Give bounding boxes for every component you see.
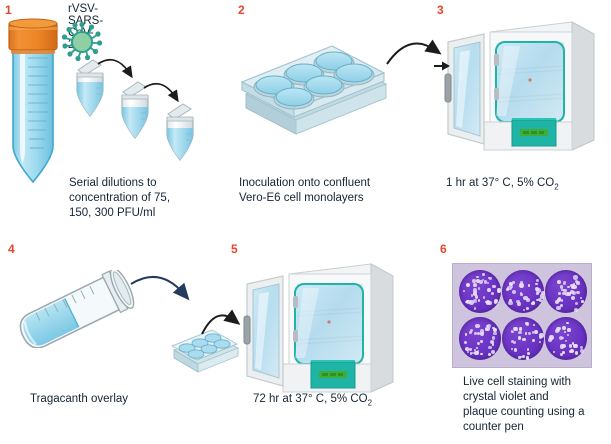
stained-six-well-plate-photo <box>452 263 592 368</box>
plaque-dot <box>512 290 516 294</box>
plaque-dot <box>478 299 480 301</box>
plaque-dot <box>469 348 471 350</box>
stained-well <box>502 317 544 360</box>
caption-line: counter pen <box>463 420 609 435</box>
plaque-dot <box>533 324 535 326</box>
plaque-dot <box>569 344 572 347</box>
plaque-dot <box>539 335 543 339</box>
plaque-dot <box>473 283 477 287</box>
caption-line: concentration of 75, <box>69 191 229 206</box>
plaque-dot <box>571 296 575 300</box>
plaque-dot <box>473 293 477 297</box>
stained-well <box>545 270 587 313</box>
plaque-dot <box>482 273 485 276</box>
caption-line: Vero-E6 cell monolayers <box>239 191 409 206</box>
caption-line: 150, 300 PFU/ml <box>69 206 229 221</box>
caption-word: at <box>469 177 479 189</box>
plaque-dot <box>527 352 530 355</box>
plaque-dot <box>475 324 479 328</box>
plaque-dot <box>480 353 482 355</box>
plaque-dot <box>478 287 481 290</box>
plaque-dot <box>494 299 498 303</box>
curved-arrow-icon <box>128 268 204 316</box>
plaque-dot <box>485 327 489 331</box>
panel-6-caption: Live cell staining with crystal violet a… <box>463 375 609 435</box>
plaque-dot <box>483 296 486 299</box>
plaque-dot <box>560 353 563 356</box>
panel-1-caption: Serial dilutions to concentration of 75,… <box>69 176 229 221</box>
plaque-dot <box>562 326 566 330</box>
plaque-dot <box>513 341 516 344</box>
plaque-dot <box>536 292 539 295</box>
plaque-dot <box>560 304 563 307</box>
plaque-dot <box>565 292 569 296</box>
plaque-dot <box>575 280 578 283</box>
plaque-dot <box>518 356 521 359</box>
plaque-dot <box>465 301 467 303</box>
plaque-dot <box>473 299 477 303</box>
incubation-temperature: 37° C, <box>295 393 327 405</box>
caption-line: plaque counting using a <box>463 405 609 420</box>
plaque-dot <box>491 350 495 354</box>
plaque-dot <box>557 280 561 284</box>
plaque-dot <box>567 328 570 331</box>
six-well-plate-icon <box>238 32 390 140</box>
caption-line: Live cell staining with <box>463 375 609 390</box>
plaque-dot <box>563 281 566 284</box>
plaque-dot <box>526 307 529 310</box>
plaque-dot <box>491 292 495 296</box>
plaque-dot <box>555 329 559 333</box>
plaque-dot <box>570 349 574 353</box>
conical-tube-tilted-icon <box>12 270 144 348</box>
panel-number: 1 <box>5 4 12 16</box>
co2-subscript: 2 <box>368 398 372 407</box>
serial-dilution-tubes-icon <box>58 58 238 173</box>
stained-well <box>459 270 501 313</box>
panel-number: 4 <box>8 243 15 255</box>
co2-concentration: 5% CO <box>517 177 554 189</box>
plaque-dot <box>474 307 477 310</box>
plaque-dot <box>492 343 494 345</box>
plaque-dot <box>464 341 467 344</box>
plaque-dot <box>519 283 524 288</box>
plaque-dot <box>470 352 473 355</box>
plaque-dot <box>580 349 584 353</box>
plaque-dot <box>519 327 522 330</box>
plaque-dot <box>477 350 479 352</box>
plaque-dot <box>465 333 468 336</box>
incubation-temperature: 37° C, <box>482 177 514 189</box>
stained-well <box>502 270 544 313</box>
co2-incubator-icon <box>434 16 602 164</box>
incubation-time: 72 hr <box>253 393 279 405</box>
plaque-dot <box>581 300 584 303</box>
plaque-dot <box>539 299 542 302</box>
plaque-dot <box>536 279 539 282</box>
plaque-dot <box>575 351 579 355</box>
plaque-dot <box>484 280 488 284</box>
panel-5-caption: 72 hr at 37° C, 5% CO2 <box>253 392 423 410</box>
plaque-dot <box>526 298 531 303</box>
plaque-dot <box>492 285 496 289</box>
plaque-dot <box>467 351 469 353</box>
plaque-dot <box>463 290 465 292</box>
plaque-dot <box>532 331 535 334</box>
plaque-dot <box>497 288 501 292</box>
panel-number: 5 <box>231 243 238 255</box>
plaque-dot <box>506 288 509 291</box>
plaque-dot <box>511 348 513 350</box>
plaque-dot <box>573 275 578 280</box>
plaque-dot <box>518 331 521 334</box>
caption-line: crystal violet and <box>463 390 609 405</box>
caption-line: Inoculation onto confluent <box>239 176 409 191</box>
panel-number: 3 <box>437 4 444 16</box>
plaque-dot <box>525 322 528 325</box>
plaque-dot <box>492 336 495 339</box>
plaque-dot <box>516 300 519 303</box>
plaque-dot <box>480 340 483 343</box>
plaque-dot <box>528 284 530 286</box>
plaque-dot <box>511 340 514 343</box>
conical-tube-50ml-icon <box>4 18 62 188</box>
plaque-dot <box>580 297 583 300</box>
plaque-dot <box>566 322 569 325</box>
incubation-time: 1 hr <box>446 177 466 189</box>
plaque-dot <box>526 356 530 360</box>
plaque-dot <box>487 282 489 284</box>
plaque-dot <box>571 285 574 288</box>
co2-incubator-icon <box>233 258 401 406</box>
plaque-dot <box>466 283 470 287</box>
plaque-dot <box>523 309 525 311</box>
plaque-dot <box>535 283 537 285</box>
caption-line: Serial dilutions to <box>69 176 229 191</box>
plaque-dot <box>527 348 530 351</box>
plaque-dot <box>512 281 514 283</box>
plaque-dot <box>539 341 541 343</box>
plaque-dot <box>487 288 491 292</box>
plaque-dot <box>558 292 562 296</box>
plaque-dot <box>559 336 563 340</box>
stained-well <box>459 317 501 360</box>
plaque-dot <box>518 336 522 340</box>
plaque-dot <box>572 291 576 295</box>
plaque-dot <box>567 334 569 336</box>
panel-number: 2 <box>238 4 245 16</box>
plaque-dot <box>522 355 525 358</box>
panel-4-caption: Tragacanth overlay <box>30 392 210 407</box>
plaque-dot <box>532 339 535 342</box>
co2-concentration: 5% CO <box>331 393 368 405</box>
co2-subscript: 2 <box>554 182 558 191</box>
plaque-dot <box>548 338 552 342</box>
plaque-dot <box>488 346 491 349</box>
plaque-dot <box>574 308 578 312</box>
plaque-dot <box>522 338 526 342</box>
stained-well <box>545 317 587 360</box>
plaque-dot <box>469 331 472 334</box>
plaque-dot <box>553 351 555 353</box>
caption-line: Tragacanth overlay <box>30 392 210 407</box>
plaque-dot <box>531 302 535 306</box>
plaque-dot <box>555 300 559 304</box>
plaque-dot <box>535 287 539 291</box>
panel-2-caption: Inoculation onto confluent Vero-E6 cell … <box>239 176 409 206</box>
plaque-dot <box>565 340 567 342</box>
plaque-dot <box>567 286 569 288</box>
plaque-dot <box>561 299 563 301</box>
plaque-dot <box>534 330 538 334</box>
caption-word: at <box>282 393 292 405</box>
plaque-dot <box>528 332 531 335</box>
panel-3-caption: 1 hr at 37° C, 5% CO2 <box>446 176 606 194</box>
plaque-dot <box>560 344 564 348</box>
plaque-dot <box>576 291 580 295</box>
plaque-dot <box>476 276 479 279</box>
plaque-dot <box>480 332 484 336</box>
plaque-dot <box>514 348 518 352</box>
plaque-dot <box>575 302 578 305</box>
panel-number: 6 <box>440 243 447 255</box>
plaque-dot <box>473 288 478 293</box>
plaque-dot <box>511 331 513 333</box>
plaque-dot <box>493 332 497 336</box>
plaque-dot <box>525 332 527 334</box>
plaque-dot <box>564 331 566 333</box>
